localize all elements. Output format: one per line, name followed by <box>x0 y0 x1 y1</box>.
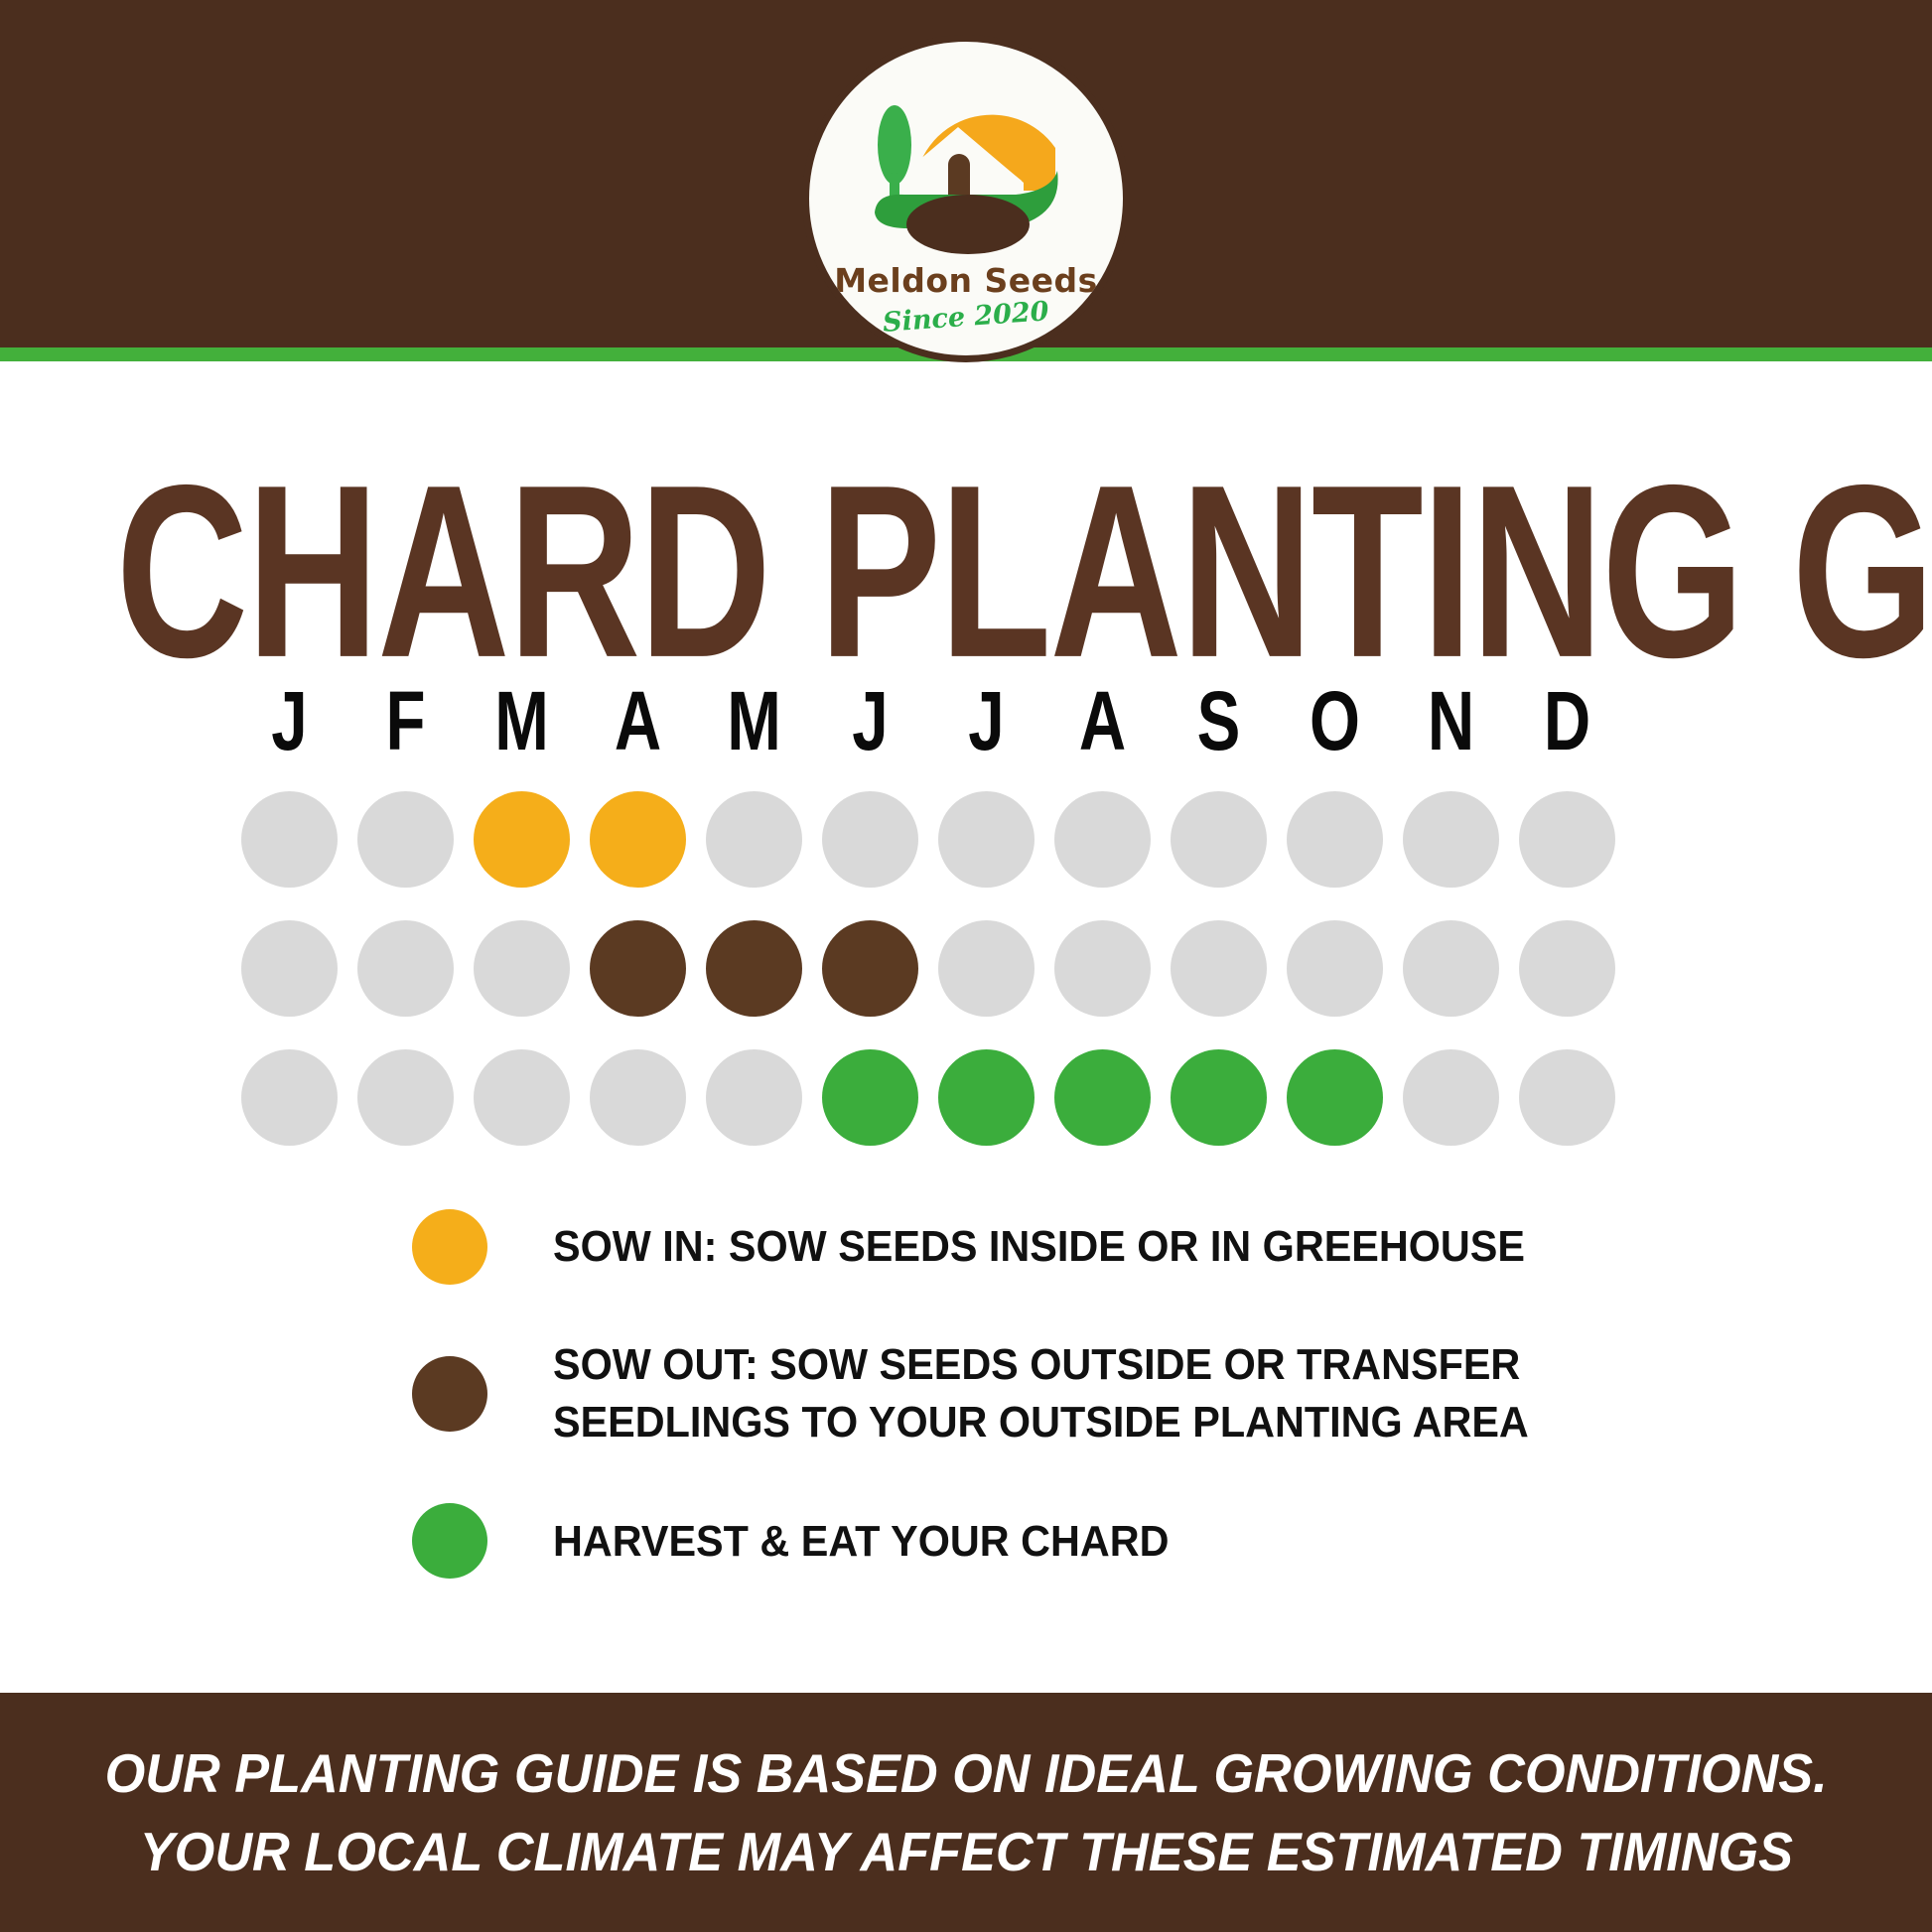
calendar-cell-undefinedmay <box>696 920 812 1017</box>
dot-sow-in-apr-active <box>590 791 686 888</box>
calendar-cell-undefinedjul <box>928 920 1044 1017</box>
dot-harvest-oct-active <box>1287 1049 1383 1146</box>
calendar-cell-undefineddec <box>1509 920 1625 1017</box>
calendar-cell-undefinedmar <box>464 1049 580 1146</box>
logo-tagline: Since 2020 <box>882 298 1049 337</box>
dot-sow-in-jun-inactive <box>822 791 918 888</box>
legend-label-harvest: HARVEST & EAT YOUR CHARD <box>553 1513 1169 1570</box>
calendar-cell-undefinedfeb <box>347 1049 464 1146</box>
dot-harvest-feb-inactive <box>357 1049 454 1146</box>
dot-sow-in-jul-inactive <box>938 791 1035 888</box>
dot-sow-in-may-inactive <box>706 791 802 888</box>
calendar-cell-undefinedaug <box>1044 920 1161 1017</box>
dot-sow-out-sep-inactive <box>1171 920 1267 1017</box>
calendar-cell-undefinedaug <box>1044 791 1161 888</box>
legend-swatch-harvest <box>412 1503 487 1579</box>
page-title: CHARD PLANTING GUIDE <box>116 449 1816 695</box>
calendar-cell-undefinedoct <box>1277 791 1393 888</box>
legend-item-sow-out: SOW OUT: SOW SEEDS OUTSIDE OR TRANSFER S… <box>412 1336 1802 1451</box>
calendar-cell-undefinedjun <box>812 791 928 888</box>
logo-brand-name: Meldon Seeds <box>834 264 1098 297</box>
month-label-sep: S <box>1173 679 1264 762</box>
dot-sow-out-feb-inactive <box>357 920 454 1017</box>
dot-harvest-aug-active <box>1054 1049 1151 1146</box>
calendar-cell-undefinedjul <box>928 1049 1044 1146</box>
legend-item-sow-in: SOW IN: SOW SEEDS INSIDE OR IN GREEHOUSE <box>412 1209 1802 1285</box>
legend-label-sow-in-line1: SOW IN: SOW SEEDS INSIDE OR IN GREEHOUSE <box>553 1218 1525 1275</box>
calendar-cell-undefinedjan <box>231 791 347 888</box>
dot-sow-in-jan-inactive <box>241 791 338 888</box>
dot-sow-out-jul-inactive <box>938 920 1035 1017</box>
harvest-row <box>231 1033 1701 1162</box>
calendar-cell-undefinedapr <box>580 1049 696 1146</box>
dot-harvest-mar-inactive <box>474 1049 570 1146</box>
calendar-cell-undefinedapr <box>580 920 696 1017</box>
calendar-cell-undefinedmar <box>464 920 580 1017</box>
dot-sow-in-feb-inactive <box>357 791 454 888</box>
calendar-cell-undefinedjun <box>812 1049 928 1146</box>
dot-harvest-jun-active <box>822 1049 918 1146</box>
sow-out-row <box>231 903 1701 1033</box>
farmhouse-logo-icon <box>857 73 1075 262</box>
calendar-cell-undefinedjan <box>231 1049 347 1146</box>
dot-sow-out-apr-active <box>590 920 686 1017</box>
dot-sow-out-mar-inactive <box>474 920 570 1017</box>
calendar-cell-undefinedmar <box>464 791 580 888</box>
footer-line-2: YOUR LOCAL CLIMATE MAY AFFECT THESE ESTI… <box>139 1813 1792 1890</box>
month-label-mar: M <box>477 679 567 762</box>
legend-label-sow-in: SOW IN: SOW SEEDS INSIDE OR IN GREEHOUSE <box>553 1218 1525 1275</box>
month-label-nov: N <box>1406 679 1496 762</box>
calendar-cell-undefineddec <box>1509 1049 1625 1146</box>
calendar-cell-undefinedsep <box>1161 791 1277 888</box>
legend: SOW IN: SOW SEEDS INSIDE OR IN GREEHOUSE… <box>412 1209 1802 1630</box>
calendar-cell-undefinedapr <box>580 791 696 888</box>
calendar-cell-undefineddec <box>1509 791 1625 888</box>
calendar-cell-undefinedjul <box>928 791 1044 888</box>
calendar-cell-undefinedmay <box>696 1049 812 1146</box>
calendar-cell-undefinednov <box>1393 1049 1509 1146</box>
dot-sow-out-jan-inactive <box>241 920 338 1017</box>
calendar-cell-undefinednov <box>1393 920 1509 1017</box>
month-label-aug: A <box>1057 679 1148 762</box>
legend-label-sow-out-line1: SOW OUT: SOW SEEDS OUTSIDE OR TRANSFER <box>553 1336 1529 1394</box>
dot-sow-out-dec-inactive <box>1519 920 1615 1017</box>
calendar-cell-undefinedmay <box>696 791 812 888</box>
calendar-cell-undefinedsep <box>1161 1049 1277 1146</box>
calendar-cell-undefinednov <box>1393 791 1509 888</box>
dot-sow-in-aug-inactive <box>1054 791 1151 888</box>
month-label-apr: A <box>593 679 683 762</box>
month-label-row: J F M A M J J A S O N D <box>231 667 1701 774</box>
calendar-cell-undefinedjan <box>231 920 347 1017</box>
month-label-oct: O <box>1290 679 1380 762</box>
dot-sow-in-oct-inactive <box>1287 791 1383 888</box>
calendar-cell-undefinedoct <box>1277 920 1393 1017</box>
planting-calendar: J F M A M J J A S O N D <box>231 667 1701 1162</box>
dot-sow-out-aug-inactive <box>1054 920 1151 1017</box>
calendar-cell-undefinedfeb <box>347 791 464 888</box>
month-label-may: M <box>709 679 799 762</box>
dot-sow-in-mar-active <box>474 791 570 888</box>
calendar-cell-undefinedjun <box>812 920 928 1017</box>
dot-sow-out-may-active <box>706 920 802 1017</box>
dot-harvest-jul-active <box>938 1049 1035 1146</box>
dot-sow-in-sep-inactive <box>1171 791 1267 888</box>
legend-swatch-sow-in <box>412 1209 487 1285</box>
dot-harvest-may-inactive <box>706 1049 802 1146</box>
legend-swatch-sow-out <box>412 1356 487 1432</box>
dot-harvest-sep-active <box>1171 1049 1267 1146</box>
dot-sow-out-jun-active <box>822 920 918 1017</box>
footer-disclaimer: OUR PLANTING GUIDE IS BASED ON IDEAL GRO… <box>0 1693 1932 1932</box>
month-label-jun: J <box>825 679 915 762</box>
dot-harvest-nov-inactive <box>1403 1049 1499 1146</box>
dot-harvest-dec-inactive <box>1519 1049 1615 1146</box>
dot-sow-out-oct-inactive <box>1287 920 1383 1017</box>
month-label-jul: J <box>941 679 1032 762</box>
footer-line-1: OUR PLANTING GUIDE IS BASED ON IDEAL GRO… <box>105 1734 1828 1812</box>
legend-label-harvest-line1: HARVEST & EAT YOUR CHARD <box>553 1513 1169 1570</box>
dot-sow-in-dec-inactive <box>1519 791 1615 888</box>
month-label-feb: F <box>360 679 451 762</box>
month-label-dec: D <box>1522 679 1612 762</box>
calendar-cell-undefinedoct <box>1277 1049 1393 1146</box>
legend-label-sow-out-line2: SEEDLINGS TO YOUR OUTSIDE PLANTING AREA <box>553 1394 1529 1451</box>
sow-in-row <box>231 774 1701 903</box>
legend-item-harvest: HARVEST & EAT YOUR CHARD <box>412 1503 1802 1579</box>
calendar-cell-undefinedfeb <box>347 920 464 1017</box>
month-label-jan: J <box>244 679 335 762</box>
dot-harvest-jan-inactive <box>241 1049 338 1146</box>
dot-harvest-apr-inactive <box>590 1049 686 1146</box>
brand-logo: Meldon Seeds Since 2020 <box>802 35 1130 362</box>
legend-label-sow-out: SOW OUT: SOW SEEDS OUTSIDE OR TRANSFER S… <box>553 1336 1529 1451</box>
dot-sow-out-nov-inactive <box>1403 920 1499 1017</box>
calendar-cell-undefinedaug <box>1044 1049 1161 1146</box>
dot-sow-in-nov-inactive <box>1403 791 1499 888</box>
calendar-cell-undefinedsep <box>1161 920 1277 1017</box>
